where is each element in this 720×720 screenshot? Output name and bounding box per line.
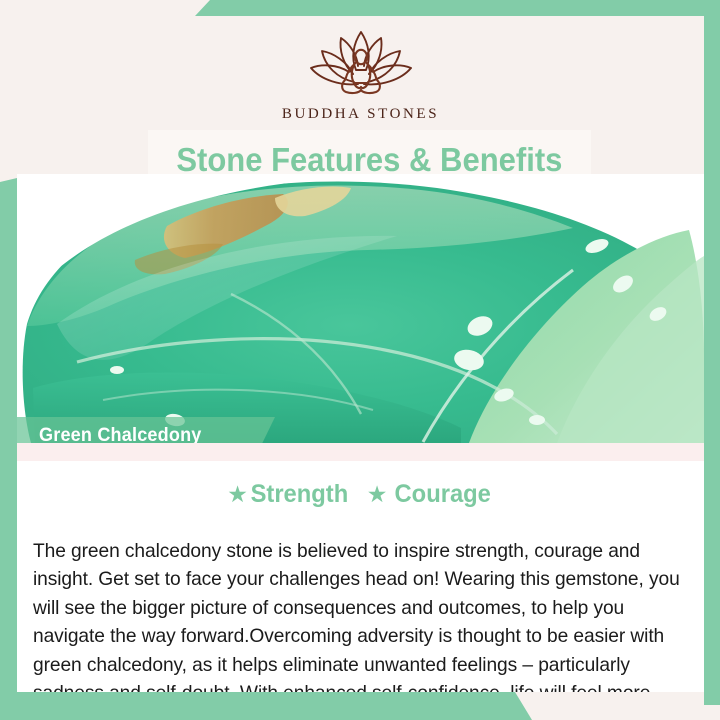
keywords-row: ★Strength★Courage <box>17 480 704 509</box>
star-icon: ★ <box>367 483 388 506</box>
green-chalcedony-illustration <box>17 174 704 443</box>
brand-block: BUDDHA STONES <box>17 24 704 123</box>
star-icon: ★ <box>227 483 248 506</box>
keyword-strength: Strength <box>250 480 348 509</box>
lotus-meditation-figure-icon <box>297 24 425 102</box>
decorative-left-strip <box>0 178 17 720</box>
body-section: ★Strength★Courage The green chalcedony s… <box>17 461 704 692</box>
stone-description: The green chalcedony stone is believed t… <box>33 537 683 693</box>
decorative-top-band <box>0 0 720 16</box>
blush-separator <box>17 443 704 461</box>
brand-name: BUDDHA STONES <box>17 106 704 123</box>
gemstone-photo <box>17 174 704 443</box>
keyword-courage: Courage <box>395 480 491 509</box>
stone-features-infographic: BUDDHA STONES Stone Features & Benefits <box>0 0 720 720</box>
decorative-bottom-band <box>0 692 720 720</box>
content-panel: BUDDHA STONES Stone Features & Benefits <box>17 16 704 692</box>
decorative-right-strip <box>704 0 720 705</box>
